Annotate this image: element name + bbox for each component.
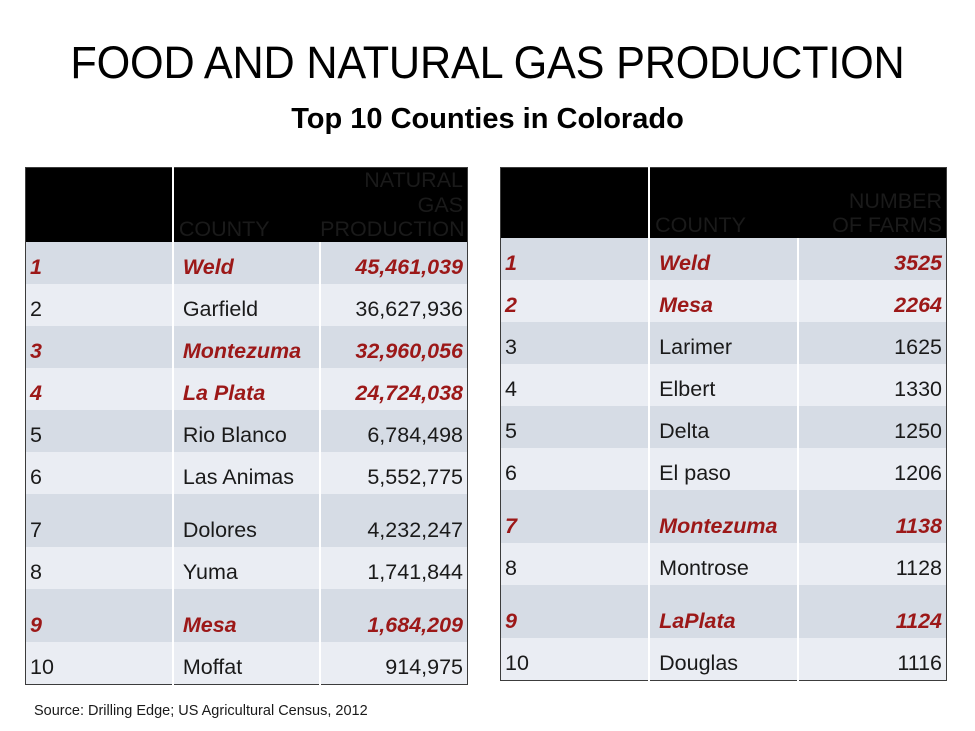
cell-value: 1124 xyxy=(798,585,947,638)
cell-rank: 4 xyxy=(26,368,173,410)
cell-county: La Plata xyxy=(173,368,320,410)
cell-county: Yuma xyxy=(173,547,320,589)
header-row: COUNTY NUMBER OF FARMS xyxy=(501,168,947,239)
cell-value: 2264 xyxy=(798,280,947,322)
header-value: NUMBER OF FARMS xyxy=(798,168,947,239)
header-county: COUNTY xyxy=(649,168,798,239)
cell-rank: 5 xyxy=(501,406,650,448)
cell-rank: 3 xyxy=(26,326,173,368)
cell-rank: 1 xyxy=(26,242,173,284)
table-row: 1Weld3525 xyxy=(501,238,947,280)
cell-county: Dolores xyxy=(173,494,320,547)
cell-rank: 8 xyxy=(501,543,650,585)
cell-county: Las Animas xyxy=(173,452,320,494)
cell-rank: 1 xyxy=(501,238,650,280)
cell-value: 1206 xyxy=(798,448,947,490)
table-body: 1Weld35252Mesa22643Larimer16254Elbert133… xyxy=(501,238,947,680)
cell-county: Weld xyxy=(173,242,320,284)
cell-value: 914,975 xyxy=(320,642,467,684)
table-row: 2Mesa2264 xyxy=(501,280,947,322)
cell-value: 1250 xyxy=(798,406,947,448)
cell-county: Mesa xyxy=(173,589,320,642)
header-rank xyxy=(501,168,650,239)
table-row: 4La Plata24,724,038 xyxy=(26,368,468,410)
table-row: 5Delta1250 xyxy=(501,406,947,448)
table-header: COUNTY NATURAL GAS PRODUCTION xyxy=(26,168,468,243)
table-row: 5Rio Blanco6,784,498 xyxy=(26,410,468,452)
cell-county: Mesa xyxy=(649,280,798,322)
natural-gas-production-table: COUNTY NATURAL GAS PRODUCTION 1Weld45,46… xyxy=(25,167,468,685)
cell-value: 36,627,936 xyxy=(320,284,467,326)
cell-county: Montezuma xyxy=(649,490,798,543)
cell-value: 1,741,844 xyxy=(320,547,467,589)
cell-county: El paso xyxy=(649,448,798,490)
page-title: FOOD AND NATURAL GAS PRODUCTION xyxy=(20,0,956,85)
cell-value: 4,232,247 xyxy=(320,494,467,547)
cell-county: Garfield xyxy=(173,284,320,326)
cell-value: 1,684,209 xyxy=(320,589,467,642)
cell-value: 1138 xyxy=(798,490,947,543)
table-row: 3Montezuma32,960,056 xyxy=(26,326,468,368)
cell-value: 6,784,498 xyxy=(320,410,467,452)
cell-rank: 6 xyxy=(501,448,650,490)
header-rank xyxy=(26,168,173,243)
header-row: COUNTY NATURAL GAS PRODUCTION xyxy=(26,168,468,243)
table-row: 6Las Animas5,552,775 xyxy=(26,452,468,494)
cell-county: Larimer xyxy=(649,322,798,364)
cell-value: 45,461,039 xyxy=(320,242,467,284)
cell-county: Rio Blanco xyxy=(173,410,320,452)
cell-rank: 3 xyxy=(501,322,650,364)
cell-rank: 8 xyxy=(26,547,173,589)
cell-rank: 9 xyxy=(501,585,650,638)
cell-value: 1625 xyxy=(798,322,947,364)
cell-value: 32,960,056 xyxy=(320,326,467,368)
cell-value: 1128 xyxy=(798,543,947,585)
table-row: 3Larimer1625 xyxy=(501,322,947,364)
cell-county: Weld xyxy=(649,238,798,280)
cell-value: 24,724,038 xyxy=(320,368,467,410)
table-row: 6El paso1206 xyxy=(501,448,947,490)
cell-rank: 7 xyxy=(501,490,650,543)
table-row: 2Garfield36,627,936 xyxy=(26,284,468,326)
cell-rank: 2 xyxy=(26,284,173,326)
table-row: 7Montezuma1138 xyxy=(501,490,947,543)
number-of-farms-table: COUNTY NUMBER OF FARMS 1Weld35252Mesa226… xyxy=(500,167,947,681)
cell-rank: 9 xyxy=(26,589,173,642)
cell-rank: 4 xyxy=(501,364,650,406)
cell-county: Delta xyxy=(649,406,798,448)
cell-county: LaPlata xyxy=(649,585,798,638)
table-row: 10Moffat914,975 xyxy=(26,642,468,684)
cell-value: 1116 xyxy=(798,638,947,680)
title-block: FOOD AND NATURAL GAS PRODUCTION Top 10 C… xyxy=(0,0,975,134)
cell-rank: 5 xyxy=(26,410,173,452)
cell-rank: 10 xyxy=(501,638,650,680)
page-subtitle: Top 10 Counties in Colorado xyxy=(0,85,975,134)
table-row: 8Yuma1,741,844 xyxy=(26,547,468,589)
table-row: 1Weld45,461,039 xyxy=(26,242,468,284)
table-row: 8Montrose1128 xyxy=(501,543,947,585)
cell-county: Douglas xyxy=(649,638,798,680)
cell-value: 5,552,775 xyxy=(320,452,467,494)
source-note: Source: Drilling Edge; US Agricultural C… xyxy=(34,703,368,719)
header-county: COUNTY xyxy=(173,168,320,243)
cell-value: 1330 xyxy=(798,364,947,406)
cell-county: Elbert xyxy=(649,364,798,406)
table-row: 10Douglas1116 xyxy=(501,638,947,680)
cell-county: Montrose xyxy=(649,543,798,585)
cell-county: Moffat xyxy=(173,642,320,684)
table-header: COUNTY NUMBER OF FARMS xyxy=(501,168,947,239)
header-value: NATURAL GAS PRODUCTION xyxy=(320,168,467,243)
cell-rank: 2 xyxy=(501,280,650,322)
table-row: 9LaPlata1124 xyxy=(501,585,947,638)
cell-rank: 10 xyxy=(26,642,173,684)
cell-rank: 6 xyxy=(26,452,173,494)
table-row: 4Elbert1330 xyxy=(501,364,947,406)
cell-value: 3525 xyxy=(798,238,947,280)
table-row: 7Dolores4,232,247 xyxy=(26,494,468,547)
cell-county: Montezuma xyxy=(173,326,320,368)
table-row: 9Mesa1,684,209 xyxy=(26,589,468,642)
cell-rank: 7 xyxy=(26,494,173,547)
table-body: 1Weld45,461,0392Garfield36,627,9363Monte… xyxy=(26,242,468,684)
